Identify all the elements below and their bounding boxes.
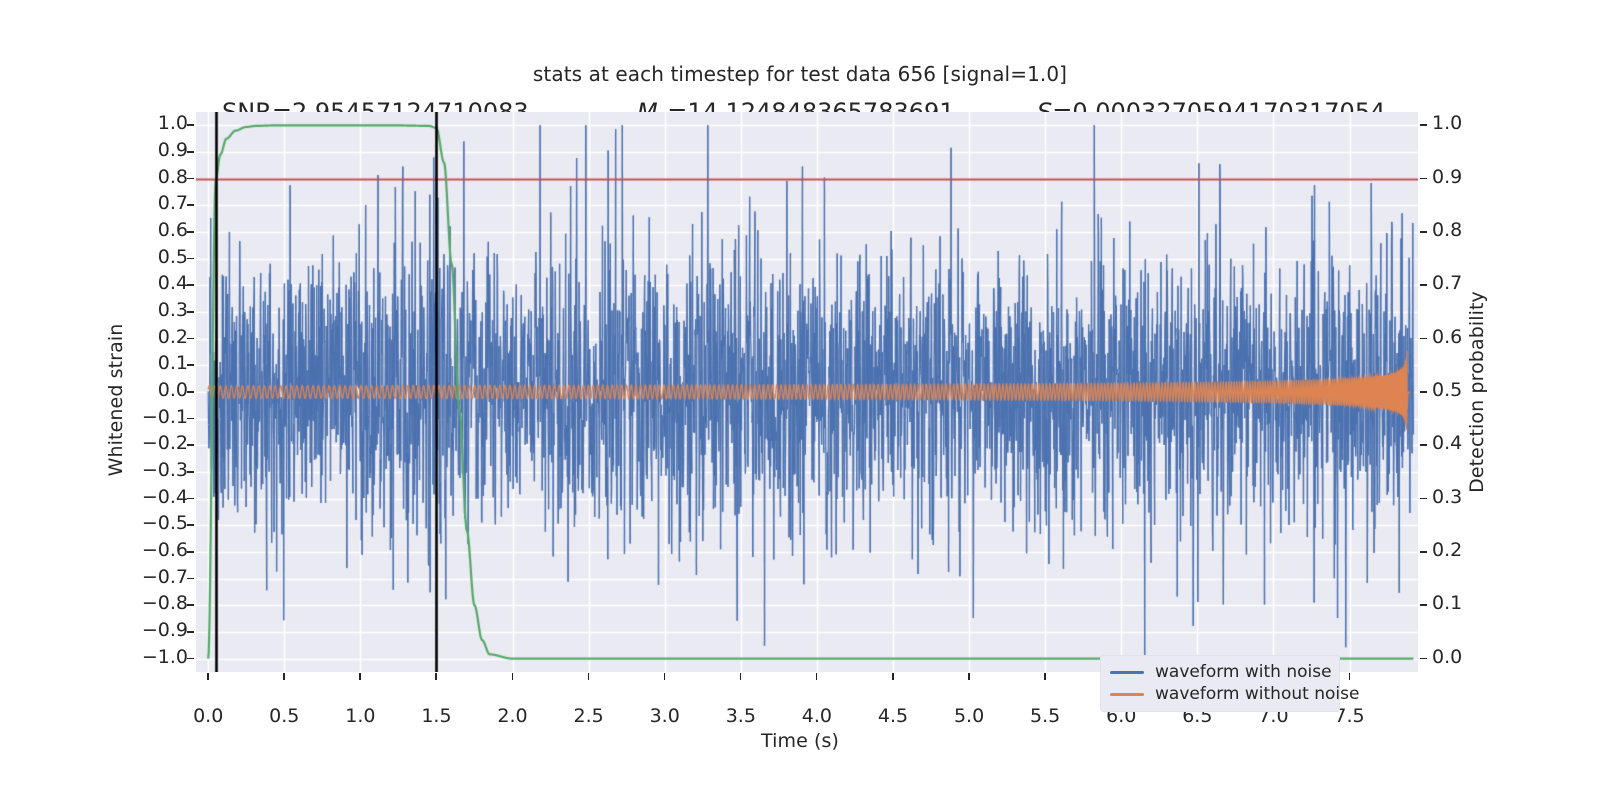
y-axis-left-tick-label: −0.4 <box>142 486 188 508</box>
y-axis-left-tick-label: 0.6 <box>158 219 188 241</box>
y-axis-left-tick-mark <box>187 391 194 393</box>
x-axis-tick-mark <box>283 673 285 680</box>
x-axis-tick-mark <box>1349 673 1351 680</box>
y-axis-right-tick-mark <box>1420 444 1427 446</box>
plot-area <box>196 112 1418 672</box>
y-axis-left-tick-label: 0.5 <box>158 246 188 268</box>
y-axis-right-tick-label: 0.7 <box>1432 272 1462 294</box>
y-axis-left-tick-mark <box>187 231 194 233</box>
legend-item: waveform without noise <box>1110 683 1330 705</box>
x-axis-tick-mark <box>359 673 361 680</box>
y-axis-right-tick-label: 0.4 <box>1432 432 1462 454</box>
y-axis-right-tick-label: 0.8 <box>1432 219 1462 241</box>
legend-swatch-waveform-without-noise <box>1110 693 1144 696</box>
y-axis-left-tick-label: −0.8 <box>142 592 188 614</box>
y-axis-right-tick-label: 0.3 <box>1432 486 1462 508</box>
y-axis-left-tick-mark <box>187 338 194 340</box>
y-axis-left-tick-mark <box>187 418 194 420</box>
y-axis-left-label: Whitened strain <box>105 324 127 477</box>
legend-label-waveform-with-noise: waveform with noise <box>1155 662 1332 682</box>
x-axis-tick-label: 5.0 <box>954 705 984 727</box>
x-axis-tick-label: 0.5 <box>269 705 299 727</box>
page-title: stats at each timestep for test data 656… <box>0 62 1600 86</box>
y-axis-right-tick-label: 0.2 <box>1432 539 1462 561</box>
y-axis-left-tick-label: 0.9 <box>158 139 188 161</box>
y-axis-left-tick-label: −0.9 <box>142 619 188 641</box>
y-axis-left-tick-mark <box>187 178 194 180</box>
x-axis-tick-label: 4.5 <box>878 705 908 727</box>
y-axis-right-tick-mark <box>1420 124 1427 126</box>
x-axis-tick-mark <box>740 673 742 680</box>
legend-swatch-waveform-with-noise <box>1110 671 1144 674</box>
y-axis-left-tick-label: 0.1 <box>158 352 188 374</box>
y-axis-left-tick-label: −0.7 <box>142 566 188 588</box>
y-axis-left-tick-mark <box>187 604 194 606</box>
y-axis-right-tick-mark <box>1420 604 1427 606</box>
figure-canvas: stats at each timestep for test data 656… <box>0 0 1600 800</box>
y-axis-left-tick-mark <box>187 311 194 313</box>
y-axis-right-tick-label: 0.9 <box>1432 166 1462 188</box>
x-axis-tick-mark <box>1044 673 1046 680</box>
y-axis-right-tick-label: 0.5 <box>1432 379 1462 401</box>
x-axis-tick-mark <box>512 673 514 680</box>
x-axis-tick-mark <box>664 673 666 680</box>
y-axis-left-tick-label: −0.6 <box>142 539 188 561</box>
x-axis-tick-label: 2.0 <box>497 705 527 727</box>
x-axis-tick-mark <box>968 673 970 680</box>
y-axis-right-tick-label: 0.0 <box>1432 646 1462 668</box>
x-axis-tick-mark <box>435 673 437 680</box>
x-axis-tick-mark <box>892 673 894 680</box>
y-axis-right-tick-label: 1.0 <box>1432 112 1462 134</box>
legend: waveform with noise waveform without noi… <box>1100 655 1340 712</box>
y-axis-left-tick-mark <box>187 284 194 286</box>
y-axis-left-tick-mark <box>187 471 194 473</box>
x-axis-tick-label: 0.0 <box>193 705 223 727</box>
y-axis-left-tick-mark <box>187 258 194 260</box>
y-axis-right-tick-mark <box>1420 658 1427 660</box>
y-axis-left-tick-mark <box>187 524 194 526</box>
y-axis-left-tick-label: 0.0 <box>158 379 188 401</box>
y-axis-left-tick-label: −0.1 <box>142 406 188 428</box>
y-axis-left-tick-label: 0.3 <box>158 299 188 321</box>
y-axis-right-tick-label: 0.6 <box>1432 326 1462 348</box>
x-axis-tick-label: 1.5 <box>421 705 451 727</box>
y-axis-left-tick-mark <box>187 578 194 580</box>
y-axis-left-tick-label: −0.5 <box>142 512 188 534</box>
y-axis-left-tick-label: 0.8 <box>158 166 188 188</box>
y-axis-left-tick-label: 0.2 <box>158 326 188 348</box>
y-axis-left-tick-label: 0.7 <box>158 192 188 214</box>
y-axis-left-tick-mark <box>187 658 194 660</box>
y-axis-right-tick-mark <box>1420 338 1427 340</box>
x-axis-label: Time (s) <box>0 730 1600 752</box>
x-axis-tick-label: 4.0 <box>802 705 832 727</box>
y-axis-left-tick-label: −0.3 <box>142 459 188 481</box>
x-axis-tick-mark <box>816 673 818 680</box>
x-axis-tick-label: 3.5 <box>726 705 756 727</box>
y-axis-left-tick-label: 1.0 <box>158 112 188 134</box>
y-axis-left-tick-mark <box>187 124 194 126</box>
y-axis-right-tick-mark <box>1420 551 1427 553</box>
x-axis-tick-mark <box>207 673 209 680</box>
y-axis-left-tick-label: −1.0 <box>142 646 188 668</box>
x-axis-tick-label: 1.0 <box>345 705 375 727</box>
y-axis-right-tick-mark <box>1420 391 1427 393</box>
y-axis-left-tick-label: 0.4 <box>158 272 188 294</box>
y-axis-left-tick-mark <box>187 151 194 153</box>
y-axis-right-tick-mark <box>1420 284 1427 286</box>
x-axis-tick-mark <box>588 673 590 680</box>
y-axis-left-tick-mark <box>187 631 194 633</box>
y-axis-left-tick-mark <box>187 364 194 366</box>
y-axis-right-tick-mark <box>1420 498 1427 500</box>
y-axis-right-tick-mark <box>1420 178 1427 180</box>
y-axis-left-tick-mark <box>187 444 194 446</box>
x-axis-tick-label: 2.5 <box>574 705 604 727</box>
y-axis-left-tick-mark <box>187 551 194 553</box>
plot-canvas <box>196 112 1418 672</box>
y-axis-left-tick-mark <box>187 204 194 206</box>
legend-label-waveform-without-noise: waveform without noise <box>1155 684 1359 704</box>
y-axis-right-tick-label: 0.1 <box>1432 592 1462 614</box>
y-axis-left-tick-label: −0.2 <box>142 432 188 454</box>
x-axis-tick-label: 5.5 <box>1030 705 1060 727</box>
legend-item: waveform with noise <box>1110 661 1330 683</box>
y-axis-right-tick-mark <box>1420 231 1427 233</box>
y-axis-left-tick-mark <box>187 498 194 500</box>
y-axis-right-label: Detection probability <box>1466 291 1488 493</box>
x-axis-tick-label: 3.0 <box>650 705 680 727</box>
